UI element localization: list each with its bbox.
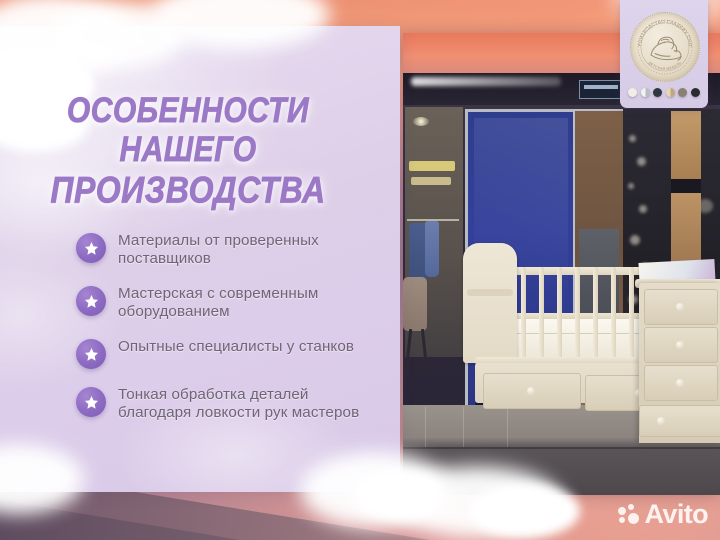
drawer-knob [676, 341, 684, 349]
drawer-knob [676, 379, 684, 387]
crib-headboard [463, 243, 517, 363]
list-item-label: Тонкая обработка деталей благодаря ловко… [118, 386, 376, 422]
avito-wordmark: Avito [645, 501, 709, 528]
list-item: Мастерская с современным оборудованием [76, 285, 376, 321]
wood-panel [671, 111, 701, 179]
swatch-charcoal [691, 88, 700, 97]
floor-seam [403, 447, 720, 449]
swatch-white [628, 88, 637, 97]
drawer-knob [676, 303, 684, 311]
avito-dots-icon [618, 504, 642, 526]
star-icon [76, 286, 106, 316]
listing-image: ОСОБЕННОСТИ НАШЕГО ПРОИЗВОДСТВА Материал… [0, 0, 720, 540]
heading-line-2: НАШЕГО [12, 133, 364, 168]
chest-of-drawers [639, 283, 720, 443]
heading-line-3: ПРОИЗВОДСТВА [12, 171, 364, 209]
sleeping-baby-logo: ПРОИЗВОДСТВО СЛАДКИХ СНОВ ДЕТСКАЯ МЕБЕЛЬ [630, 12, 700, 82]
heading-line-1: ОСОБЕННОСТИ [12, 94, 364, 129]
feature-card: ОСОБЕННОСТИ НАШЕГО ПРОИЗВОДСТВА Материал… [0, 26, 400, 492]
star-icon [76, 387, 106, 417]
star-icon [76, 339, 106, 369]
swatch-dark-navy [653, 88, 662, 97]
drawer-knob [657, 417, 665, 425]
svg-text:ДЕТСКАЯ МЕБЕЛЬ: ДЕТСКАЯ МЕБЕЛЬ [648, 61, 683, 72]
shelf [411, 177, 451, 185]
avito-watermark: Avito [618, 501, 709, 528]
page-title: ОСОБЕННОСТИ НАШЕГО ПРОИЗВОДСТВА [12, 94, 364, 204]
list-item-label: Опытные специалисты у станков [118, 338, 354, 356]
yellow-shelf [409, 161, 455, 171]
list-item: Тонкая обработка деталей благодаря ловко… [76, 386, 376, 422]
swatch-beige [666, 88, 675, 97]
swatch-light-grey [641, 88, 650, 97]
list-item: Материалы от проверенных поставщиков [76, 232, 376, 268]
chair [403, 277, 427, 331]
feature-list: Материалы от проверенных поставщиков Мас… [76, 232, 376, 439]
brand-badge: ПРОИЗВОДСТВО СЛАДКИХ СНОВ ДЕТСКАЯ МЕБЕЛЬ [620, 0, 708, 108]
svg-text:ПРОИЗВОДСТВО СЛАДКИХ СНОВ: ПРОИЗВОДСТВО СЛАДКИХ СНОВ [631, 13, 693, 47]
spotlight [413, 117, 429, 126]
color-swatches [628, 88, 700, 97]
list-item: Опытные специалисты у станков [76, 338, 376, 369]
list-item-label: Мастерская с современным оборудованием [118, 285, 376, 321]
chest-drawer [639, 405, 720, 437]
drawer-knob [527, 387, 535, 395]
swatch-warm-grey [678, 88, 687, 97]
ceiling-light [411, 77, 561, 86]
list-item-label: Материалы от проверенных поставщиков [118, 232, 376, 268]
star-icon [76, 233, 106, 263]
hanging-garment [425, 221, 439, 277]
